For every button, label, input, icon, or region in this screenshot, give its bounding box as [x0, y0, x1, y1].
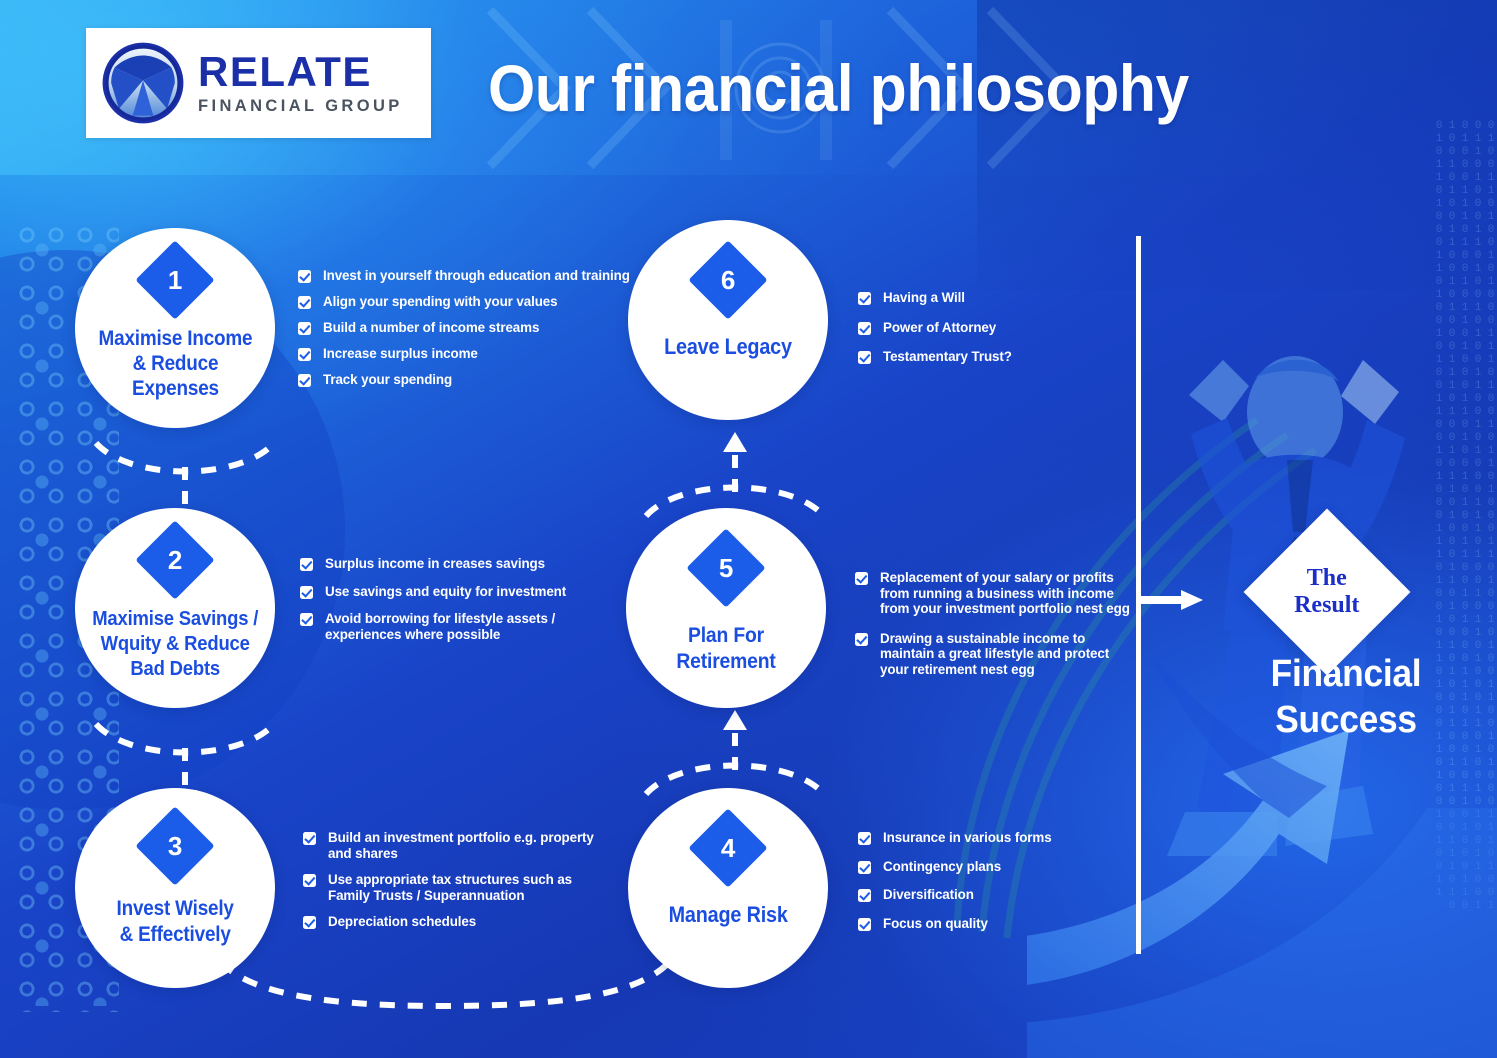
checkbox-checked-icon [858, 889, 871, 902]
bullet-item: Contingency plans [858, 859, 1158, 875]
bullet-item: Increase surplus income [298, 346, 638, 362]
connector-step3-to-step4 [185, 930, 705, 1040]
checkbox-checked-icon [858, 292, 871, 305]
bullet-label: Increase surplus income [323, 346, 478, 362]
bullet-label: Testamentary Trust? [883, 349, 1012, 365]
step-number-6: 6 [721, 267, 735, 293]
bullet-item: Focus on quality [858, 916, 1158, 932]
result-caption: Financial Success [1207, 651, 1486, 743]
result-badge-line2: Result [1294, 592, 1359, 619]
bullet-item: Surplus income in creases savings [300, 556, 600, 572]
step-bullets-4: Insurance in various forms Contingency p… [858, 830, 1158, 931]
checkbox-checked-icon [855, 633, 868, 646]
step-title-2: Maximise Savings / Wquity & Reduce Bad D… [92, 606, 258, 681]
step-number-3: 3 [168, 833, 182, 859]
bullet-label: Depreciation schedules [328, 914, 476, 930]
bullet-label: Align your spending with your values [323, 294, 557, 310]
checkbox-checked-icon [298, 270, 311, 283]
bullet-item: Use savings and equity for investment [300, 584, 600, 600]
step-number-badge-5: 5 [686, 528, 765, 607]
bullet-label: Having a Will [883, 290, 965, 306]
bullet-label: Contingency plans [883, 859, 1001, 875]
infographic-poster: 0100110100101000111010010110100011010010… [0, 0, 1497, 1058]
bullet-item: Avoid borrowing for lifestyle assets / e… [300, 611, 600, 642]
checkbox-checked-icon [300, 558, 313, 571]
bullet-label: Build a number of income streams [323, 320, 539, 336]
step-number-badge-2: 2 [135, 520, 214, 599]
checkbox-checked-icon [298, 296, 311, 309]
bullet-item: Invest in yourself through education and… [298, 268, 638, 284]
bullet-item: Diversification [858, 887, 1158, 903]
bullet-item: Testamentary Trust? [858, 349, 1138, 365]
bullet-item: Align your spending with your values [298, 294, 638, 310]
checkbox-checked-icon [855, 572, 868, 585]
bullet-label: Power of Attorney [883, 320, 996, 336]
step-number-4: 4 [721, 835, 735, 861]
step-number-5: 5 [719, 555, 733, 581]
result-badge-line1: The [1294, 565, 1359, 592]
checkbox-checked-icon [300, 586, 313, 599]
result-badge-text: The Result [1294, 565, 1359, 619]
checkbox-checked-icon [858, 322, 871, 335]
step-circle-4[interactable]: 4 Manage Risk [628, 788, 828, 988]
checkbox-checked-icon [303, 916, 316, 929]
page-title: Our financial philosophy [488, 48, 1316, 128]
background-top-right-shade [977, 0, 1497, 290]
brand-tagline: FINANCIAL GROUP [198, 96, 403, 116]
bullet-label: Replacement of your salary or profits fr… [880, 570, 1130, 617]
bullet-item: Having a Will [858, 290, 1138, 306]
step-number-badge-1: 1 [135, 240, 214, 319]
step-title-4: Manage Risk [668, 902, 787, 928]
step-title-6: Leave Legacy [664, 334, 792, 360]
bullet-label: Invest in yourself through education and… [323, 268, 630, 284]
brand-name: RELATE [198, 51, 403, 93]
step-title-5: Plan For Retirement [636, 622, 816, 674]
checkbox-checked-icon [858, 351, 871, 364]
step-bullets-5: Replacement of your salary or profits fr… [855, 570, 1145, 677]
step-circle-2[interactable]: 2 Maximise Savings / Wquity & Reduce Bad… [75, 508, 275, 708]
step-circle-6[interactable]: 6 Leave Legacy [628, 220, 828, 420]
checkbox-checked-icon [300, 613, 313, 626]
bullet-item: Depreciation schedules [303, 914, 623, 930]
bullet-label: Build an investment portfolio e.g. prope… [328, 830, 596, 861]
checkbox-checked-icon [858, 832, 871, 845]
checkbox-checked-icon [298, 322, 311, 335]
arrow-right-icon [1141, 589, 1203, 611]
step-number-2: 2 [168, 547, 182, 573]
step-bullets-2: Surplus income in creases savings Use sa… [300, 556, 600, 642]
bullet-item: Drawing a sustainable income to maintain… [855, 631, 1145, 678]
bullet-item: Insurance in various forms [858, 830, 1158, 846]
brand-wordmark: RELATE FINANCIAL GROUP [198, 51, 403, 116]
bullet-label: Focus on quality [883, 916, 988, 932]
step-circle-3[interactable]: 3 Invest Wisely & Effectively [75, 788, 275, 988]
bullet-item: Use appropriate tax structures such as F… [303, 872, 623, 903]
step-title-3: Invest Wisely & Effectively [116, 896, 233, 948]
checkbox-checked-icon [858, 918, 871, 931]
bullet-item: Build an investment portfolio e.g. prope… [303, 830, 623, 861]
step-circle-5[interactable]: 5 Plan For Retirement [626, 508, 826, 708]
bullet-label: Drawing a sustainable income to maintain… [880, 631, 1120, 678]
step-number-badge-6: 6 [688, 240, 767, 319]
bullet-label: Avoid borrowing for lifestyle assets / e… [325, 611, 575, 642]
checkbox-checked-icon [298, 374, 311, 387]
bullet-label: Diversification [883, 887, 974, 903]
step-number-badge-3: 3 [135, 806, 214, 885]
step-number-1: 1 [168, 267, 182, 293]
bullet-label: Surplus income in creases savings [325, 556, 545, 572]
step-bullets-3: Build an investment portfolio e.g. prope… [303, 830, 623, 930]
bullet-label: Track your spending [323, 372, 452, 388]
bullet-item: Replacement of your salary or profits fr… [855, 570, 1145, 617]
step-circle-1[interactable]: 1 Maximise Income & Reduce Expenses [75, 228, 275, 428]
bullet-item: Track your spending [298, 372, 638, 388]
diamond-shield-logo-icon [100, 40, 186, 126]
bullet-label: Insurance in various forms [883, 830, 1052, 846]
step-title-1: Maximise Income & Reduce Expenses [98, 326, 252, 401]
bullet-item: Power of Attorney [858, 320, 1138, 336]
checkbox-checked-icon [303, 832, 316, 845]
bullet-label: Use savings and equity for investment [325, 584, 566, 600]
step-bullets-6: Having a Will Power of Attorney Testamen… [858, 290, 1138, 365]
brand-logo-card[interactable]: RELATE FINANCIAL GROUP [86, 28, 431, 138]
step-number-badge-4: 4 [688, 808, 767, 887]
checkbox-checked-icon [858, 861, 871, 874]
bullet-item: Build a number of income streams [298, 320, 638, 336]
step-bullets-1: Invest in yourself through education and… [298, 268, 638, 388]
checkbox-checked-icon [303, 874, 316, 887]
bullet-label: Use appropriate tax structures such as F… [328, 872, 614, 903]
checkbox-checked-icon [298, 348, 311, 361]
